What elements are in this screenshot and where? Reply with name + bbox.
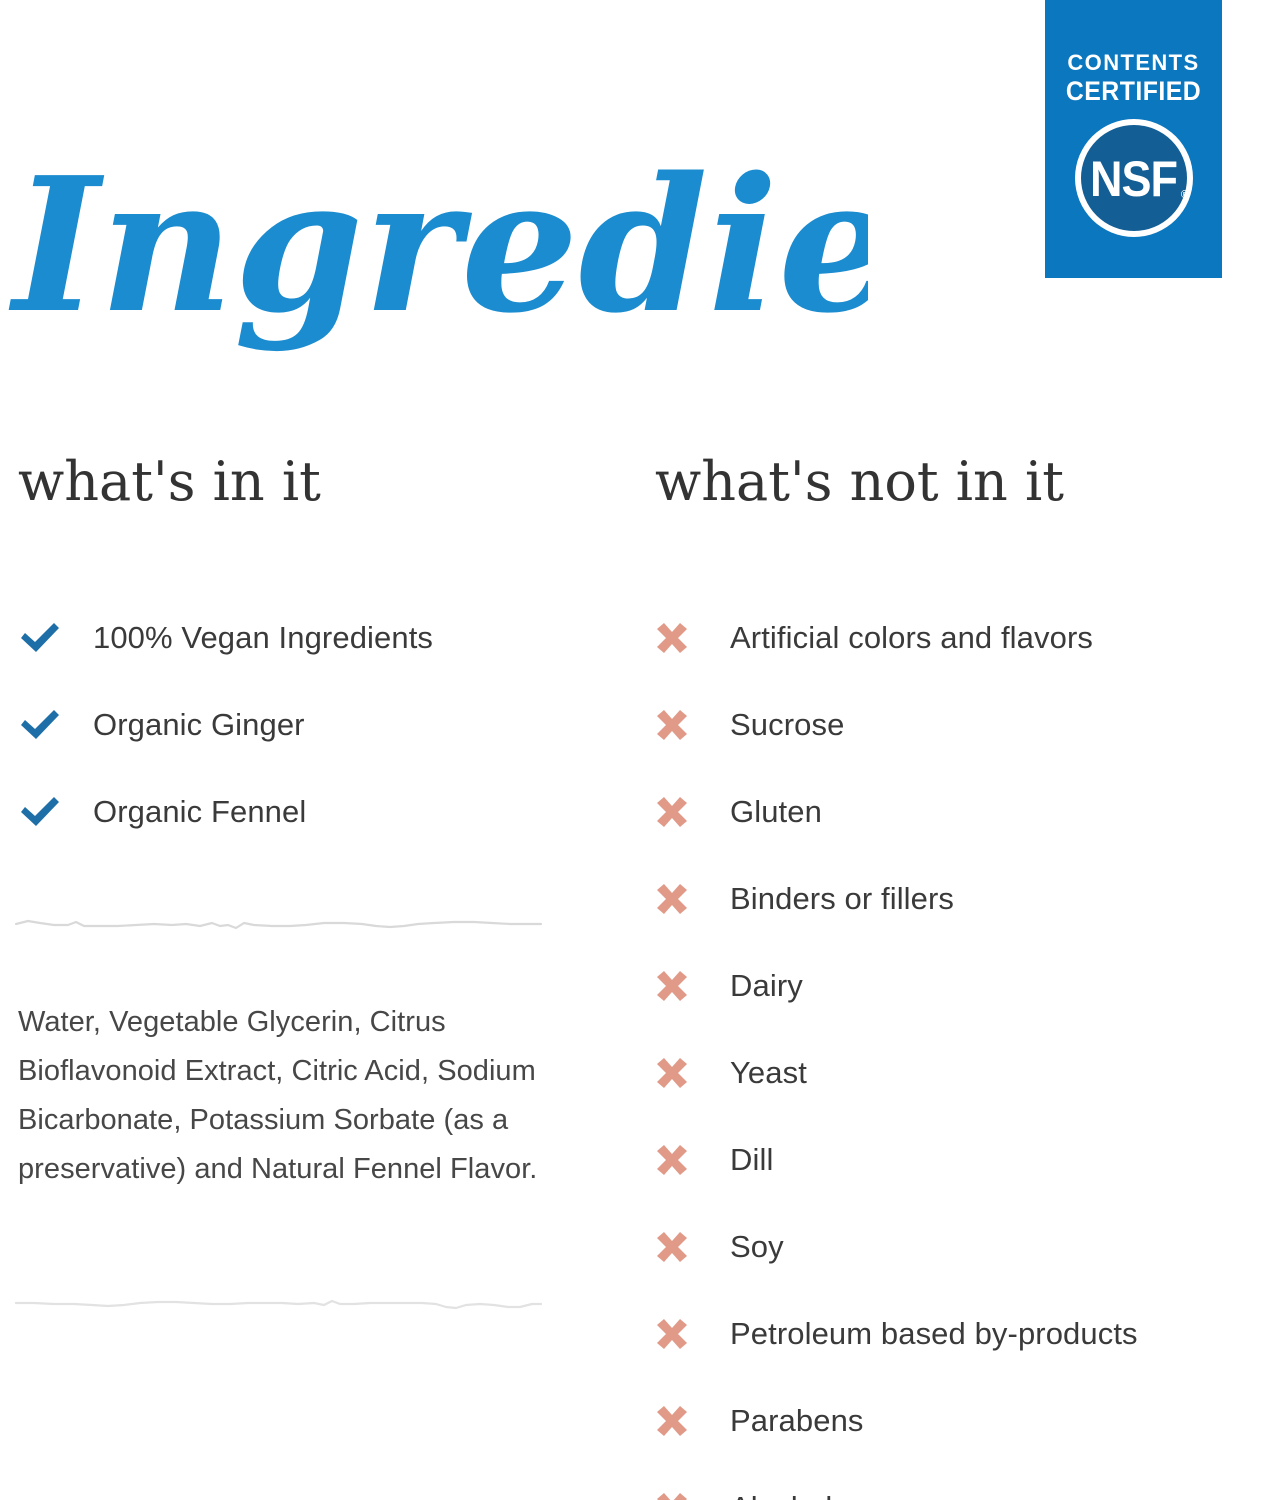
x-icon [655,1056,730,1090]
x-icon [655,795,730,829]
list-item-label: Parabens [730,1403,864,1439]
list-item: Soy [655,1203,1273,1290]
nsf-wordmark: NSF ® [1090,153,1177,203]
x-icon [655,1404,730,1438]
list-item-label: 100% Vegan Ingredients [93,620,433,656]
list-item-label: Gluten [730,794,822,830]
list-item: Petroleum based by-products [655,1290,1273,1377]
list-item: Dairy [655,942,1273,1029]
ingredient-statement: Water, Vegetable Glycerin, Citrus Biofla… [18,998,538,1194]
ingredients-panel: CONTENTS CERTIFIED NSF ® Ingredients wha… [0,0,1273,1500]
list-item: Organic Fennel [18,768,618,855]
x-icon [655,1491,730,1500]
nsf-wordmark-text: NSF [1090,150,1177,207]
list-item-label: Artificial colors and flavors [730,620,1093,656]
page-title: Ingredients [8,120,868,370]
check-icon [18,708,93,742]
list-item: Yeast [655,1029,1273,1116]
list-item: Parabens [655,1377,1273,1464]
section-divider [14,912,542,934]
list-item-label: Organic Ginger [93,707,305,743]
registered-trademark-icon: ® [1181,190,1188,201]
list-item: Gluten [655,768,1273,855]
list-item: Dill [655,1116,1273,1203]
nsf-certification-badge: CONTENTS CERTIFIED NSF ® [1045,0,1222,278]
list-item: Binders or fillers [655,855,1273,942]
list-item-label: Organic Fennel [93,794,306,830]
x-icon [655,1143,730,1177]
nsf-seal-icon: NSF ® [1075,119,1193,237]
included-ingredients-list: 100% Vegan Ingredients Organic Ginger Or… [18,594,618,855]
excluded-ingredients-list: Artificial colors and flavors Sucrose Gl… [655,594,1273,1500]
badge-line-contents: CONTENTS [1067,52,1199,74]
list-item: 100% Vegan Ingredients [18,594,618,681]
list-item-label: Binders or fillers [730,881,954,917]
whats-not-in-it-heading: what's not in it [655,455,1273,509]
list-item-label: Soy [730,1229,784,1265]
x-icon [655,708,730,742]
list-item-label: Alcohol [730,1490,832,1500]
list-item-label: Dairy [730,968,803,1004]
x-icon [655,882,730,916]
check-icon [18,621,93,655]
list-item: Organic Ginger [18,681,618,768]
x-icon [655,1230,730,1264]
whats-not-in-it-column: what's not in it Artificial colors and f… [655,455,1273,1500]
section-divider [14,1292,542,1314]
x-icon [655,969,730,1003]
check-icon [18,795,93,829]
list-item-label: Dill [730,1142,773,1178]
list-item: Sucrose [655,681,1273,768]
list-item: Alcohol [655,1464,1273,1500]
list-item-label: Yeast [730,1055,807,1091]
list-item: Artificial colors and flavors [655,594,1273,681]
x-icon [655,621,730,655]
nsf-seal-disc: NSF ® [1081,125,1187,231]
whats-in-it-column: what's in it 100% Vegan Ingredients Orga… [18,455,618,855]
x-icon [655,1317,730,1351]
whats-in-it-heading: what's in it [18,455,618,509]
badge-line-certified: CERTIFIED [1066,77,1201,105]
page-title-text: Ingredients [8,136,868,354]
list-item-label: Petroleum based by-products [730,1316,1138,1352]
list-item-label: Sucrose [730,707,844,743]
